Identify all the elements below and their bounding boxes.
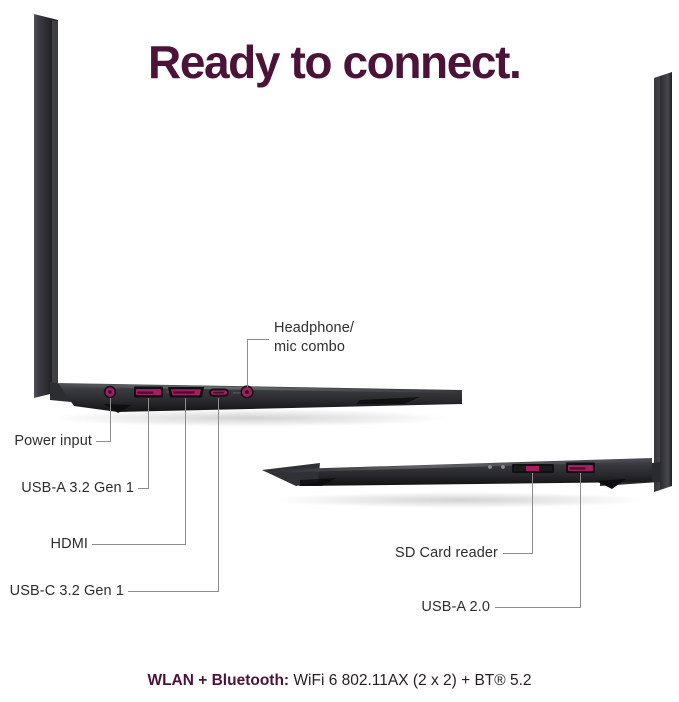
- leader-usb-a-20-horizontal: [495, 607, 581, 608]
- callout-usb-a-32-gen1-label: USB-A 3.2 Gen 1: [21, 480, 134, 496]
- laptop-right: [262, 72, 672, 508]
- leader-power-input-horizontal: [96, 441, 111, 442]
- callout-sd-card-reader: SD Card reader: [340, 544, 498, 563]
- leader-hdmi-vertical: [185, 398, 186, 544]
- port-usb-a-20: [566, 463, 595, 474]
- leader-usb-a-20-vertical: [580, 473, 581, 607]
- callout-usb-a-32-gen1: USB-A 3.2 Gen 1: [0, 479, 134, 498]
- callout-hdmi: HDMI: [0, 535, 88, 554]
- callout-sd-card-reader-label: SD Card reader: [395, 545, 498, 561]
- wlan-bluetooth-caption: WLAN + Bluetooth: WiFi 6 802.11AX (2 x 2…: [0, 672, 679, 690]
- callout-headphone-mic: Headphone/ mic combo: [274, 319, 354, 356]
- leader-sd-card-horizontal: [503, 553, 533, 554]
- callout-headphone-line2: mic combo: [274, 339, 345, 355]
- callout-headphone-line1: Headphone/: [274, 320, 354, 336]
- leader-headphone-vertical: [247, 339, 248, 387]
- callout-usb-c-32-gen1: USB-C 3.2 Gen 1: [0, 582, 124, 601]
- leader-usb-a-32-vertical: [148, 398, 149, 488]
- callout-power-input: Power input: [0, 432, 92, 451]
- callout-usb-a-20-label: USB-A 2.0: [421, 599, 490, 615]
- leader-usb-a-32-horizontal: [138, 488, 149, 489]
- wlan-bluetooth-value: WiFi 6 802.11AX (2 x 2) + BT® 5.2: [289, 672, 531, 689]
- leader-hdmi-horizontal: [92, 544, 186, 545]
- callout-usb-c-32-gen1-label: USB-C 3.2 Gen 1: [10, 583, 124, 599]
- product-spec-graphic: Ready to connect.: [0, 0, 679, 702]
- laptop-left: [34, 14, 462, 427]
- callout-power-input-label: Power input: [14, 433, 92, 449]
- leader-power-input-vertical: [110, 398, 111, 441]
- port-hdmi: [168, 387, 204, 398]
- leader-sd-card-vertical: [532, 473, 533, 553]
- port-power-input: [104, 386, 116, 398]
- port-headphone-mic: [240, 385, 253, 398]
- wlan-bluetooth-label: WLAN + Bluetooth:: [147, 672, 289, 689]
- callout-hdmi-label: HDMI: [51, 536, 88, 552]
- callout-usb-a-20: USB-A 2.0: [340, 598, 490, 617]
- port-sd-card-reader: [512, 464, 554, 473]
- leader-usb-c-32-horizontal: [128, 591, 219, 592]
- leader-headphone-horizontal: [247, 339, 269, 340]
- leader-usb-c-32-vertical: [218, 398, 219, 591]
